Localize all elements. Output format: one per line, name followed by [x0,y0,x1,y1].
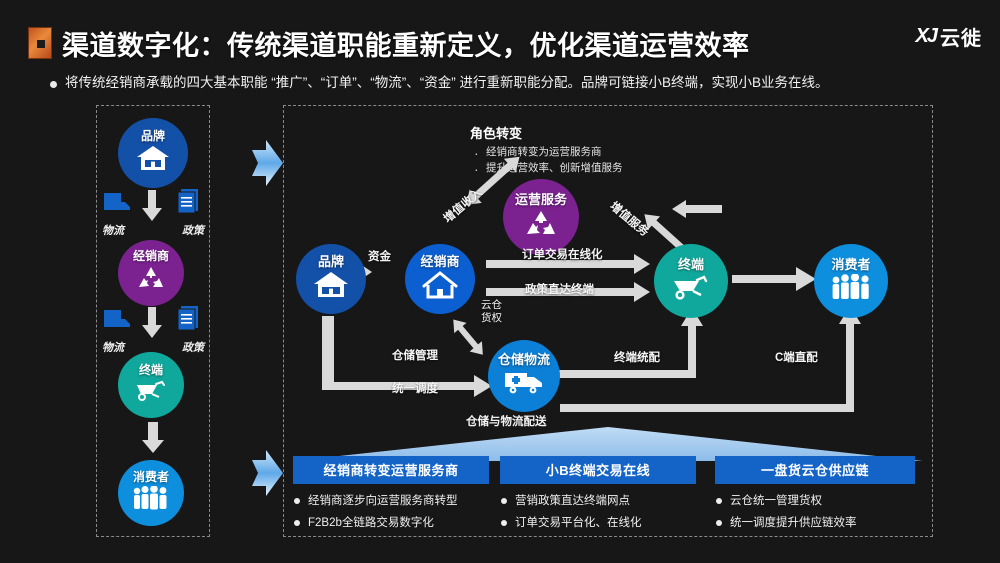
down-arrow-icon [140,190,164,227]
list-item: 统一调度提升供应链效率 [715,515,915,533]
label-cloud-warehouse-sub: 货权 [481,310,502,325]
main-node-operation-service[interactable]: 运营服务 [503,179,579,255]
role-note-item: 提升运营效率、创新增值服务 [470,161,720,177]
node-label: 终端 [139,364,163,376]
label-terminal-dispatch: 终端统配 [614,349,660,365]
bottom-panel-1: 经销商转变运营服务商 经销商逐步向运营服务商转型 F2B2b全链路交易数字化 [293,456,489,537]
page-title: 渠道数字化：传统渠道职能重新定义，优化渠道运营效率 [62,24,750,63]
page-header: 渠道数字化：传统渠道职能重新定义，优化渠道运营效率 XJ 云徙 [0,0,1000,66]
recycle-icon [524,209,558,242]
node-label: 消费者 [831,258,870,271]
logo-text: 云徙 [940,22,982,51]
label-policy-direct: 政策直达终端 [525,281,594,297]
role-note-title: 角色转变 [470,123,720,142]
label-c-direct: C端直配 [775,349,818,365]
list-item: F2B2b全链路交易数字化 [293,515,489,533]
subtitle-text: 将传统经销商承载的四大基本职能 “推广”、“订单”、“物流”、“资金” 进行重新… [65,74,828,93]
left-node-terminal[interactable]: 终端 [118,352,184,418]
list-item: 营销政策直达终端网点 [500,493,696,511]
main-node-consumer[interactable]: 消费者 [814,244,888,318]
truck-icon [104,190,134,215]
brand-logo: XJ 云徙 [916,22,982,51]
main-node-distributor[interactable]: 经销商 [405,244,475,314]
main-node-warehouse-logistics[interactable]: 仓储物流 [488,340,560,412]
label-capital: 资金 [368,248,391,264]
panel-list: 营销政策直达终端网点 订单交易平台化、在线化 [500,493,696,533]
logo-mark-icon: XJ [916,25,936,48]
wheelbarrow-icon [672,274,710,305]
node-label: 品牌 [141,130,165,142]
node-label: 经销商 [420,255,459,268]
bottom-panel-3: 一盘货云仓供应链 云仓统一管理货权 统一调度提升供应链效率 [715,456,915,537]
connector-label-logistics: 物流 [102,222,124,238]
left-node-brand[interactable]: 品牌 [118,118,188,188]
role-note-list: 经销商转变为运营服务商 提升运营效率、创新增值服务 [470,145,720,177]
chevron-right-icon [250,450,284,496]
wheelbarrow-icon [135,379,167,406]
panel-list: 云仓统一管理货权 统一调度提升供应链效率 [715,493,915,533]
list-item: 云仓统一管理货权 [715,493,915,511]
node-label: 经销商 [133,250,169,262]
left-node-consumer[interactable]: 消费者 [118,460,184,526]
document-icon [176,188,202,219]
delivery-truck-icon [504,369,544,400]
subtitle-row: 将传统经销商承载的四大基本职能 “推广”、“订单”、“物流”、“资金” 进行重新… [50,74,828,93]
left-connector-row: 物流 政策 [96,305,210,357]
left-connector-row: 物流 政策 [96,188,210,240]
panel-header: 经销商转变运营服务商 [293,456,489,484]
home-outline-icon [422,271,458,304]
label-unified-dispatch: 统一调度 [392,380,438,396]
panel-header: 一盘货云仓供应链 [715,456,915,484]
node-label: 品牌 [318,255,344,268]
connector-label-logistics: 物流 [102,339,124,355]
left-node-distributor[interactable]: 经销商 [118,240,184,306]
node-label: 仓储物流 [498,353,550,366]
connector-label-policy: 政策 [182,222,204,238]
down-arrow-icon [140,307,164,344]
connector-label-policy: 政策 [182,339,204,355]
main-node-brand[interactable]: 品牌 [296,244,366,314]
list-item: 订单交易平台化、在线化 [500,515,696,533]
node-label: 终端 [678,258,704,271]
house-icon [313,271,349,303]
title-bullet-icon [28,27,52,59]
house-icon [136,145,170,176]
label-order-online: 订单交易在线化 [522,246,603,262]
role-note-item: 经销商转变为运营服务商 [470,145,720,161]
main-node-terminal[interactable]: 终端 [654,244,728,318]
recycle-icon [136,265,166,296]
list-item: 经销商逐步向运营服务商转型 [293,493,489,511]
bullet-icon [50,81,57,88]
panel-list: 经销商逐步向运营服务商转型 F2B2b全链路交易数字化 [293,493,489,533]
label-warehouse-mgmt: 仓储管理 [392,347,438,363]
node-label: 消费者 [133,471,169,483]
people-icon [830,274,872,305]
node-label: 运营服务 [515,193,567,206]
document-icon [176,305,202,336]
role-change-note: 角色转变 经销商转变为运营服务商 提升运营效率、创新增值服务 [470,123,720,177]
chevron-right-icon [250,140,284,186]
down-arrow-icon [140,422,166,459]
people-icon [132,486,170,515]
panel-header: 小B终端交易在线 [500,456,696,484]
truck-icon [104,307,134,332]
bottom-panel-2: 小B终端交易在线 营销政策直达终端网点 订单交易平台化、在线化 [500,456,696,537]
